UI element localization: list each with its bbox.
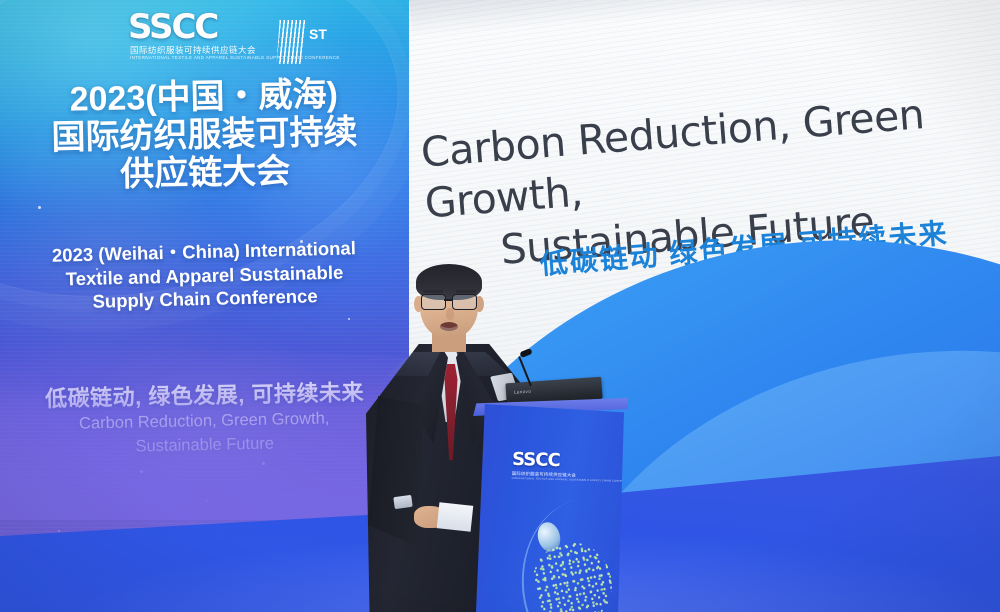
speaker-eyebrow-right (456, 290, 476, 293)
laptop-brand-label: Lenovo (514, 389, 531, 395)
microphone (530, 352, 572, 386)
first-edition-badge: ST (278, 20, 342, 72)
speaker-eyebrow-left (423, 290, 443, 293)
banner-headline-line2: 国际纺织服装可持续 (0, 112, 409, 158)
banner-headline-line3: 供应链大会 (0, 150, 409, 196)
sscc-logo-mark: SSCC (128, 10, 217, 44)
speaker-notes-paper (437, 502, 474, 531)
badge-numeral-icon (276, 20, 305, 64)
speaker-nose (446, 308, 454, 320)
podium-sscc-logo: SSCC 国际纺织服装可持续供应链大会 INTERNATIONAL TEXTIL… (512, 451, 595, 482)
sscc-logo-english: INTERNATIONAL TEXTILE AND APPAREL SUSTAI… (130, 55, 290, 60)
podium-logo-mark: SSCC (512, 451, 594, 471)
banner-subtitle: 2023 (Weihai・China) International Textil… (0, 235, 409, 316)
speaker-name-badge (393, 495, 412, 509)
conference-stage-photo: SSCC 国际纺织服装可持续供应链大会 INTERNATIONAL TEXTIL… (0, 0, 1000, 612)
speaker-mouth (440, 322, 458, 331)
sscc-logo: SSCC 国际纺织服装可持续供应链大会 INTERNATIONAL TEXTIL… (128, 6, 343, 78)
podium: SSCC 国际纺织服装可持续供应链大会 INTERNATIONAL TEXTIL… (476, 404, 624, 612)
badge-suffix: ST (309, 26, 327, 42)
speaker-glasses-icon (421, 294, 478, 309)
banner-headline: 2023(中国・威海) 国际纺织服装可持续 供应链大会 (0, 74, 409, 196)
banner-headline-line1: 2023(中国・威海) (69, 75, 338, 118)
